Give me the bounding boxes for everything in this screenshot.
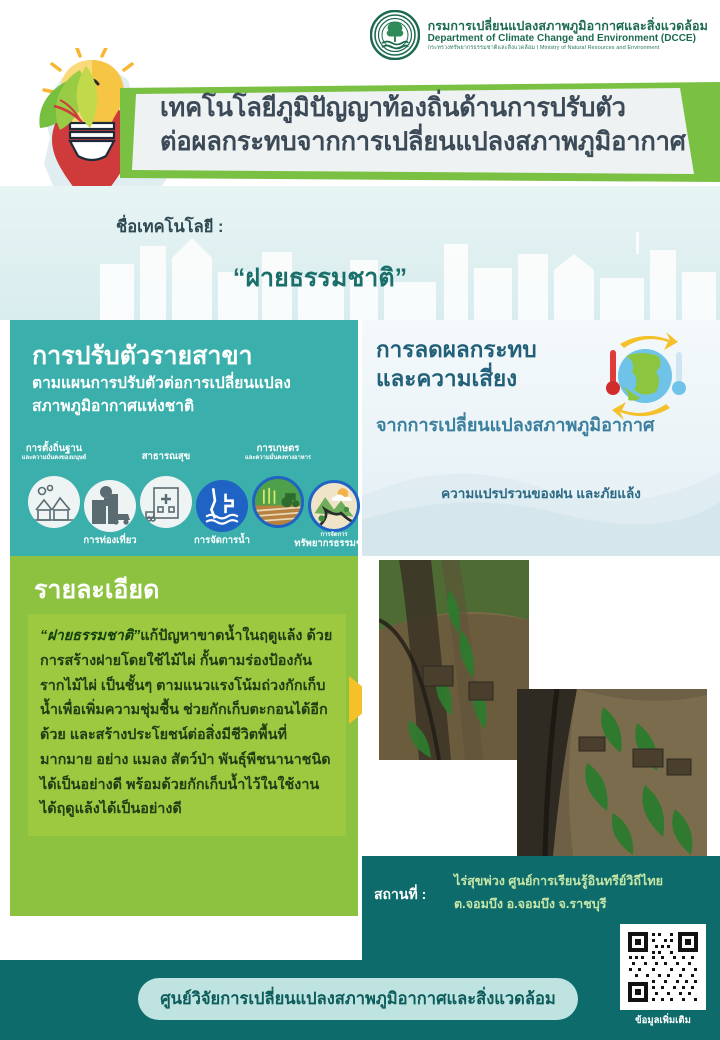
- sector-icons-row: การตั้งถิ่นฐาน และความมั่นคงของมนุษย์: [16, 444, 356, 550]
- sector-label-water-management: การจัดการน้ำ: [167, 536, 277, 547]
- technology-name-band: [0, 186, 720, 320]
- location-value: ไร่สุขพ่วง ศูนย์การเรียนรู้อินทรีย์วิถีไ…: [454, 870, 712, 917]
- bamboo-check-dam-trench-photo: [379, 560, 529, 760]
- page-title: เทคโนโลยีภูมิปัญญาท้องถิ่นด้านการปรับตัว…: [160, 92, 700, 159]
- sector-label-agriculture: การเกษตร และความมั่นคงทางอาหาร: [223, 444, 333, 462]
- adaptation-subtitle-line-1: ตามแผนการปรับตัวต่อการเปลี่ยนแปลง: [32, 372, 344, 395]
- org-name-th: กรมการเปลี่ยนแปลงสภาพภูมิอากาศและสิ่งแวด…: [428, 19, 708, 33]
- org-ministry: กระทรวงทรัพยากรธรรมชาติและสิ่งแวดล้อม I …: [428, 45, 708, 51]
- title-line-1: เทคโนโลยีภูมิปัญญาท้องถิ่นด้านการปรับตัว: [160, 92, 700, 126]
- details-title: รายละเอียด: [34, 570, 159, 610]
- location-label: สถานที่ :: [374, 884, 426, 906]
- org-name-en: Department of Climate Change and Environ…: [428, 33, 708, 45]
- sector-label-tourism: การท่องเที่ยว: [55, 536, 165, 547]
- technology-name: “ฝายธรรมชาติ”: [0, 258, 640, 298]
- red-thermometer: [606, 350, 620, 395]
- technology-label: ชื่อเทคโนโลยี :: [116, 214, 224, 240]
- sector-item-agriculture[interactable]: การเกษตร และความมั่นคงทางอาหาร: [252, 476, 304, 528]
- mitigation-title-line-1: การลดผลกระทบ: [376, 336, 606, 365]
- mitigation-title-line-2: และความเสี่ยง: [376, 365, 606, 394]
- details-keyword: “ฝายธรรมชาติ”: [40, 628, 140, 644]
- details-panel: รายละเอียด “ฝายธรรมชาติ”แก้ปัญหาขาดน้ำใน…: [10, 556, 358, 916]
- mitigation-subtitle: จากการเปลี่ยนแปลงสภาพภูมิอากาศ: [376, 410, 706, 439]
- sector-item-settlement[interactable]: การตั้งถิ่นฐาน และความมั่นคงของมนุษย์: [28, 476, 80, 528]
- adaptation-subtitle: ตามแผนการปรับตัวต่อการเปลี่ยนแปลง สภาพภู…: [32, 372, 344, 419]
- mitigation-title: การลดผลกระทบ และความเสี่ยง: [376, 336, 606, 394]
- qr-code-pattern: [626, 930, 700, 1004]
- title-line-2: ต่อผลกระทบจากการเปลี่ยนแปลงสภาพภูมิอากาศ: [160, 126, 700, 160]
- qr-caption: ข้อมูลเพิ่มเติม: [620, 1013, 706, 1028]
- settlement-houses-icon: [28, 476, 80, 528]
- dcce-logo-block: กรมการเปลี่ยนแปลงสภาพภูมิอากาศและสิ่งแวด…: [370, 10, 708, 60]
- public-health-hospital-icon: [140, 476, 192, 528]
- qr-code-icon[interactable]: [620, 924, 706, 1010]
- sector-item-tourism[interactable]: การท่องเที่ยว: [84, 480, 136, 532]
- location-line-2: ต.จอมบึง อ.จอมบึง จ.ราชบุรี: [454, 893, 712, 916]
- adaptation-title: การปรับตัวรายสาขา: [32, 336, 253, 376]
- blue-thermometer: [672, 352, 686, 395]
- details-body: “ฝายธรรมชาติ”แก้ปัญหาขาดน้ำในฤดูแล้ง ด้ว…: [28, 614, 346, 836]
- location-line-1: ไร่สุขพ่วง ศูนย์การเรียนรู้อินทรีย์วิถีไ…: [454, 870, 712, 893]
- sector-item-public-health[interactable]: สาธารณสุข: [140, 476, 192, 528]
- natural-resources-mountain-icon: [308, 480, 360, 532]
- left-spacer: [0, 916, 362, 960]
- water-management-tap-river-icon: [196, 480, 248, 532]
- sector-item-natural-resources[interactable]: การจัดการ ทรัพยากรธรรมชาติ: [308, 480, 360, 532]
- dcce-tree-water-circle-logo: [370, 10, 420, 60]
- research-center-name: ศูนย์วิจัยการเปลี่ยนแปลงสภาพภูมิอากาศและ…: [160, 986, 556, 1012]
- tourism-city-car-icon: [84, 480, 136, 532]
- details-text: แก้ปัญหาขาดน้ำในฤดูแล้ง ด้วยการสร้างฝายโ…: [40, 628, 332, 817]
- research-center-pill: ศูนย์วิจัยการเปลี่ยนแปลงสภาพภูมิอากาศและ…: [138, 978, 578, 1020]
- mitigation-panel: การลดผลกระทบ และความเสี่ยง จากการเปลี่ยน…: [362, 320, 720, 556]
- photo-gallery: [362, 556, 720, 856]
- agriculture-field-tractor-icon: [252, 476, 304, 528]
- sector-item-water-management[interactable]: การจัดการน้ำ: [196, 480, 248, 532]
- poster-header: เทคโนโลยีภูมิปัญญาท้องถิ่นด้านการปรับตัว…: [0, 0, 720, 200]
- sector-label-public-health: สาธารณสุข: [111, 452, 221, 463]
- mitigation-note: ความแปรปรวนของฝน และภัยแล้ง: [362, 482, 720, 504]
- sector-label-settlement: การตั้งถิ่นฐาน และความมั่นคงของมนุษย์: [0, 444, 109, 462]
- bamboo-check-dam-ferns-photo: [517, 689, 707, 856]
- adaptation-panel: การปรับตัวรายสาขา ตามแผนการปรับตัวต่อการ…: [10, 320, 358, 556]
- adaptation-subtitle-line-2: สภาพภูมิอากาศแห่งชาติ: [32, 395, 344, 418]
